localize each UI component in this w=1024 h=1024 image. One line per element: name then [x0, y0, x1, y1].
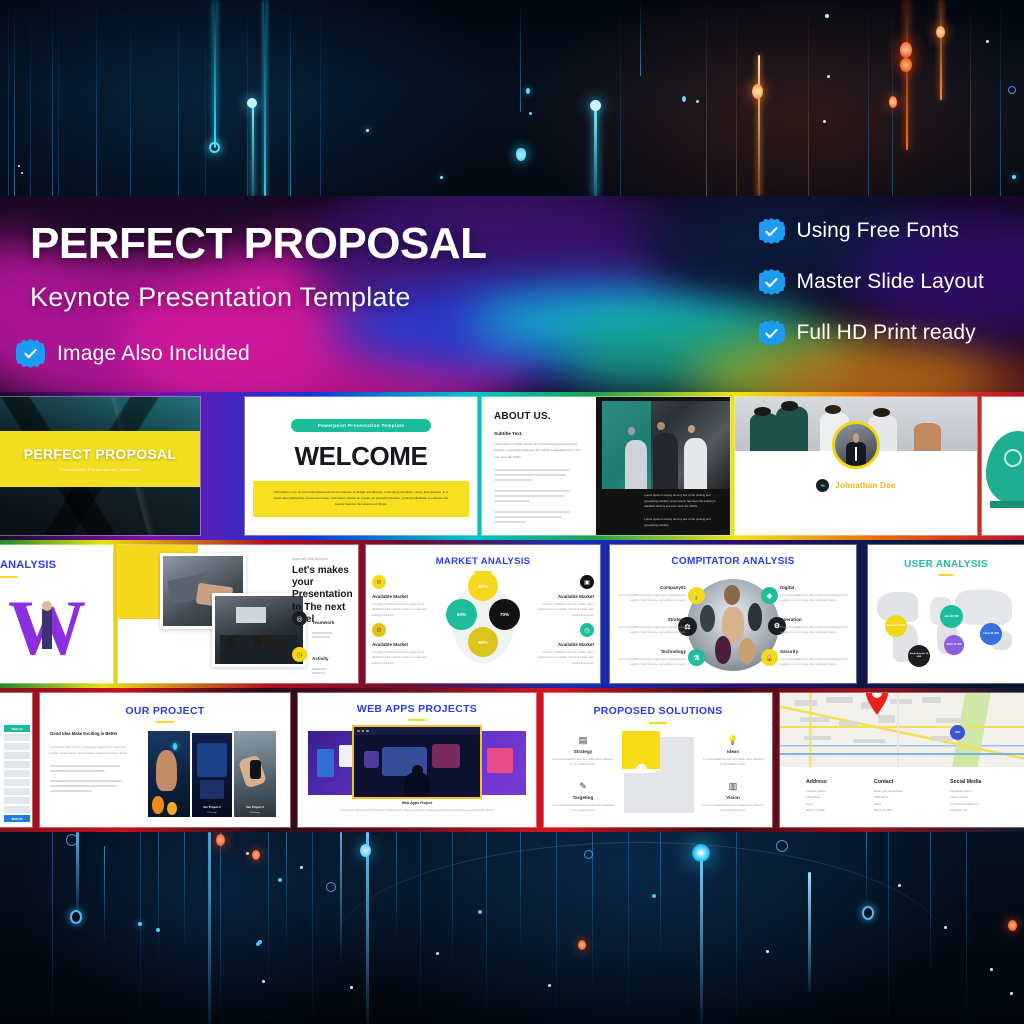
image-included-label: Image Also Included	[57, 342, 250, 366]
legend-body: It is a long established fact that a rea…	[614, 625, 686, 635]
competitor-node-icon: 🔒	[761, 649, 778, 666]
legend-body: It is a long established fact that a rea…	[780, 593, 852, 603]
slide-thumb-contact[interactable]: USA Address Company Name 1234 Street Nam…	[780, 693, 1024, 827]
legend-item: ⚙ Available Market It is a long establis…	[372, 575, 434, 618]
table-row	[4, 788, 30, 795]
legend-body: It is a long established fact that a rea…	[614, 657, 686, 667]
slide-caption-title: Web Apps Project	[298, 801, 536, 805]
competitor-node-icon: ◈	[761, 587, 778, 604]
list-item: ◷ Activity	[292, 647, 352, 674]
solution-label: Strategy	[552, 749, 614, 754]
legend-item: Company01 It is a long established fact …	[614, 585, 686, 603]
map-pin-icon	[864, 693, 890, 715]
contact-column: Social Media Facebook.com/url Twitter.co…	[950, 779, 1018, 815]
pen-icon: ✎	[552, 781, 614, 792]
solution-body: It is a long established fact that a rea…	[552, 757, 614, 767]
legend-label: Available Market	[372, 594, 434, 599]
slide-thumb-analysis[interactable]: ANALYSIS W	[0, 545, 113, 683]
legend-item: Security It is a long established fact t…	[780, 649, 852, 667]
hero-banner: PERFECT PROPOSAL Keynote Presentation Te…	[0, 196, 1024, 392]
avatar	[832, 421, 880, 469]
slide-body-text: Minimalism is an art form that transcend…	[271, 490, 451, 508]
slide-title: PROPOSED SOLUTIONS	[544, 705, 772, 717]
solution-item: ▥ Vision It is a long established fact t…	[702, 781, 764, 813]
check-badge-icon	[16, 339, 45, 368]
activity-icon: ◷	[292, 647, 307, 662]
map-marker-usa: USA	[950, 725, 965, 740]
map-marker: Africa 15 USR	[944, 635, 964, 655]
legend-label: Available Market	[372, 642, 434, 647]
project-card-title: Our Project 3	[234, 805, 276, 809]
check-badge-icon	[759, 218, 785, 244]
project-card-sub: UI Design	[192, 812, 232, 814]
legend-body: It is a long established fact that a rea…	[532, 650, 594, 666]
solution-item: 💡 Ideas It is a long established fact th…	[702, 735, 764, 767]
decorative-bottom-band	[0, 832, 1024, 1024]
slide-subtitle: Powerpoint Presentation Template	[60, 467, 140, 472]
slide-thumb-about-us[interactable]: ABOUT US. Subtitle Text. Lorem Ipsum is …	[482, 397, 730, 535]
map-graphic: USA	[780, 693, 1024, 767]
donut-segment: 90%	[446, 599, 477, 630]
slide-caption: Lorem Ipsum is simply dummy text of the …	[644, 517, 722, 529]
clipboard-icon: ▥	[702, 781, 764, 792]
table-row	[4, 779, 30, 786]
list-item: ◎ Teamwork	[292, 611, 352, 638]
legend-label: Strategy	[614, 617, 686, 622]
competitor-node-icon: ⚗	[688, 649, 705, 666]
legend-label: Available Market	[532, 594, 594, 599]
solution-body: It is a long established fact that a rea…	[702, 757, 764, 767]
legend-label: Digital	[780, 585, 852, 590]
slide-thumb-idea[interactable]	[982, 397, 1024, 535]
brand-logo-icon: ⌁	[816, 479, 829, 492]
table-row	[4, 734, 30, 741]
check-badge-icon	[759, 320, 785, 346]
browser-window-mock	[352, 725, 482, 799]
slide-body-text: Lorem ipsum dolor sit amet, consectetur …	[50, 745, 128, 756]
slide-thumb-welcome[interactable]: Powerpoint Presentation Template WELCOME…	[245, 397, 477, 535]
feature-list: Using Free Fonts Master Slide Layout Ful…	[759, 218, 985, 346]
slide-row-2: ANALYSIS W About with Best Business	[0, 540, 1024, 688]
legend-body: It is a long established fact that a rea…	[532, 602, 594, 618]
legend-item: Digital It is a long established fact th…	[780, 585, 852, 603]
legend-item: Technology It is a long established fact…	[614, 649, 686, 667]
slide-row-1: PERFECT PROPOSAL Powerpoint Presentation…	[0, 392, 1024, 540]
slide-title: ABOUT US.	[494, 411, 584, 422]
market-icon: ⚙	[372, 575, 386, 589]
map-marker: Asia 30 USR	[940, 605, 963, 628]
slide-thumb-competitor-analysis[interactable]: COMPITATOR ANALYSIS 💡 ⚖ ⚗ ◈ ⚙ 🔒 Company0…	[610, 545, 856, 683]
image-included-badge: Image Also Included	[16, 339, 250, 368]
table-footer-cell: $000.00	[4, 815, 30, 822]
slide-title: USER ANALYSIS	[868, 559, 1024, 570]
solution-item: ▤ Strategy It is a long established fact…	[552, 735, 614, 767]
project-card-title: Our Project 2	[192, 805, 232, 809]
donut-segment: 50%	[468, 571, 498, 601]
slide-headline: Good Idea Make Exciting is Better	[50, 731, 128, 737]
solution-label: Ideas	[702, 749, 764, 754]
project-card-sub: UI Design	[234, 812, 276, 814]
market-icon: ▣	[580, 575, 594, 589]
contact-heading: Social Media	[950, 779, 1018, 785]
slide-title: OUR PROJECT	[40, 705, 290, 717]
solution-body: It is a long established fact that a rea…	[702, 803, 764, 813]
slide-title: WEB APPS PROJECTS	[298, 703, 536, 715]
qr-icon: ▤	[552, 735, 614, 746]
slide-body-text: Lorem Ipsum is simply dummy text of the …	[494, 441, 584, 460]
market-icon: ◷	[580, 623, 594, 637]
solution-item: ✎ Targeting It is a long established fac…	[552, 781, 614, 813]
slide-title: MARKET ANALYSIS	[366, 556, 600, 567]
slide-row-3: Table 01 $000.00 OUR PROJECT Good Idea M…	[0, 688, 1024, 832]
slide-thumb-cover[interactable]: PERFECT PROPOSAL Powerpoint Presentation…	[0, 397, 200, 535]
person-name: Johnathan Doe	[835, 481, 895, 490]
slide-body-block: Minimalism is an art form that transcend…	[253, 481, 469, 517]
project-card[interactable]: Our Project 3 UI Design	[234, 731, 276, 817]
slide-thumb-market-analysis[interactable]: MARKET ANALYSIS 50% 70% 60% 90% ⚙ Availa…	[366, 545, 600, 683]
feature-label: Full HD Print ready	[797, 321, 976, 345]
solution-body: It is a long established fact that a rea…	[552, 803, 614, 813]
decorative-top-band	[0, 0, 1024, 196]
table-row	[4, 797, 30, 804]
legend-label: Security	[780, 649, 852, 654]
legend-item: ◷ Available Market It is a long establis…	[532, 623, 594, 666]
donut-segment: 70%	[489, 599, 520, 630]
list-item-label: Teamwork	[312, 620, 334, 625]
competitor-node-icon: 💡	[688, 587, 705, 604]
legend-body: It is a long established fact that a rea…	[614, 593, 686, 603]
map-marker: South America 10 USR	[908, 645, 930, 667]
slide-thumb-proposed-solutions[interactable]: PROPOSED SOLUTIONS ▤ Strategy It is a lo…	[544, 693, 772, 827]
slide-title: PERFECT PROPOSAL	[24, 446, 177, 462]
slide-eyebrow: About with Best Business	[292, 557, 350, 561]
market-icon: ⚙	[372, 623, 386, 637]
lightbulb-icon: 💡	[702, 735, 764, 746]
slide-title: WELCOME	[245, 441, 477, 472]
project-card[interactable]	[148, 731, 190, 817]
lightbulb-graphic	[986, 431, 1024, 505]
contact-heading: Contact	[874, 779, 940, 785]
slide-thumb-next-level[interactable]: About with Best Business Let's makes you…	[118, 545, 358, 683]
slide-thumb-user-analysis[interactable]: USER ANALYSIS America 40 USR Asia 30 USR…	[868, 545, 1024, 683]
legend-body: It is a long established fact that a rea…	[780, 657, 852, 667]
legend-item: Strategy It is a long established fact t…	[614, 617, 686, 635]
map-marker: America 40 USR	[885, 615, 907, 637]
table-header-cell: Table 01	[4, 725, 30, 732]
map-marker: China 20 USR	[980, 623, 1002, 645]
slide-subtitle: Subtitle Text.	[494, 431, 584, 436]
table-row	[4, 743, 30, 750]
donut-segment: 60%	[468, 627, 498, 657]
legend-body: It is a long established fact that a rea…	[780, 625, 852, 635]
legend-label: Technology	[614, 649, 686, 654]
page-root: PERFECT PROPOSAL Keynote Presentation Te…	[0, 0, 1024, 1024]
contact-line: Miami, FL 0000	[874, 808, 940, 814]
teamwork-icon: ◎	[292, 611, 307, 626]
puzzle-graphic	[622, 731, 694, 813]
feature-item: Using Free Fonts	[759, 218, 985, 244]
solution-label: Vision	[702, 795, 764, 800]
legend-body: It is a long established fact that a rea…	[372, 650, 434, 666]
legend-label: Available Market	[532, 642, 594, 647]
contact-heading: Address	[806, 779, 864, 785]
slide-thumb-web-apps[interactable]: WEB APPS PROJECTS Web Apps	[298, 693, 536, 827]
check-badge-icon	[759, 269, 785, 295]
slide-thumb-table[interactable]: Table 01 $000.00	[0, 693, 32, 827]
feature-item: Full HD Print ready	[759, 320, 985, 346]
contact-column: Address Company Name 1234 Street Name Mi…	[806, 779, 864, 815]
contact-line: Miami, FL 0000	[806, 808, 864, 814]
slide-title: COMPITATOR ANALYSIS	[610, 556, 856, 567]
table-row	[4, 770, 30, 777]
solution-label: Targeting	[552, 795, 614, 800]
legend-body: It is a long established fact that a rea…	[372, 602, 434, 618]
slide-caption: Lorem Ipsum is simply dummy text of the …	[644, 493, 722, 511]
legend-item: ▣ Available Market It is a long establis…	[532, 575, 594, 618]
legend-item: Operation It is a long established fact …	[780, 617, 852, 635]
contact-column: Contact Email: your-info@email 1234 Stre…	[874, 779, 940, 815]
slide-title: ANALYSIS	[0, 559, 56, 571]
slide-thumb-team[interactable]: ⌁ Johnathan Doe Company Founder “ Lorem …	[735, 397, 977, 535]
slide-photo	[602, 401, 730, 489]
feature-label: Master Slide Layout	[797, 270, 985, 294]
table-row	[4, 806, 30, 813]
list-item-label: Activity	[312, 656, 329, 661]
legend-label: Operation	[780, 617, 852, 622]
legend-item: ⚙ Available Market It is a long establis…	[372, 623, 434, 666]
project-card[interactable]: Our Project 2 UI Design	[192, 733, 232, 817]
slide-eyebrow-pill: Powerpoint Presentation Template	[291, 419, 431, 432]
feature-label: Using Free Fonts	[797, 219, 960, 243]
legend-label: Company01	[614, 585, 686, 590]
slide-thumb-our-project[interactable]: OUR PROJECT Good Idea Make Exciting is B…	[40, 693, 290, 827]
feature-item: Master Slide Layout	[759, 269, 985, 295]
table-row	[4, 752, 30, 759]
table-row	[4, 761, 30, 768]
slide-caption-body: Lorem ipsum dolor sit amet, consectetur …	[324, 808, 510, 813]
contact-line: Instagram.com	[950, 808, 1018, 814]
